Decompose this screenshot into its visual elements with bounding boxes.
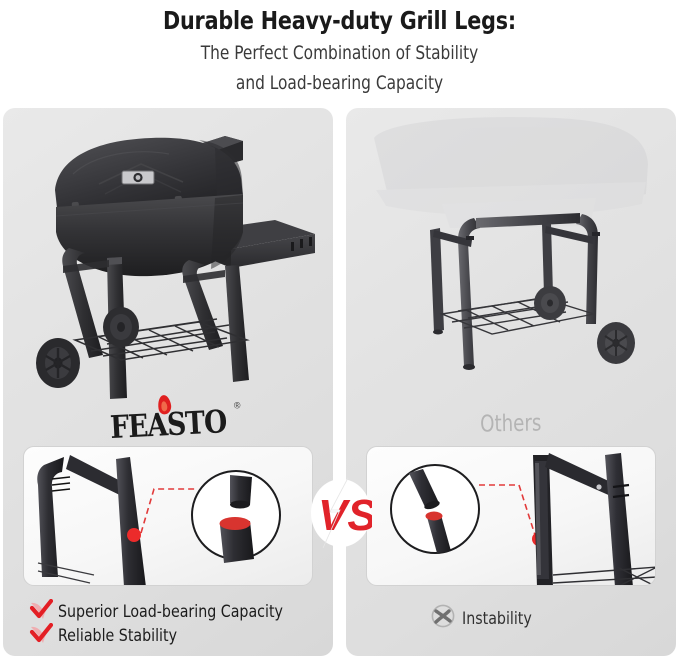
detail-callout-thin-leg [366,446,656,586]
feature-list-feasto: Superior Load-bearing Capacity Reliable … [29,600,329,648]
detail-callout-thick-leg [23,446,313,586]
temperature-gauge [122,171,154,184]
comparison-panel-others: Others [346,108,676,656]
competitor-wheels [534,286,635,364]
vs-label: VS [318,491,372,540]
brand-name: Others [480,410,542,437]
feature-label: Superior Load-bearing Capacity [58,602,283,622]
barrel-grill-illustration [3,108,333,408]
highlight-dot [127,528,141,542]
brand-row-feasto: FEASTO ® [3,404,333,444]
feasto-logo: FEASTO ® [106,404,230,443]
magnifier-circle [391,465,479,553]
feature-item: Reliable Stability [29,624,329,648]
feature-label: Instability [462,609,532,629]
comparison-panel-feasto: FEASTO ® [3,108,333,656]
thin-leg-drawing [533,453,656,586]
check-icon [29,623,53,650]
thin-legs [430,213,600,370]
infographic-root: Durable Heavy-duty Grill Legs: The Perfe… [0,0,679,662]
feature-list-others: Instability [431,604,537,633]
vs-badge: VS [310,476,372,550]
check-icon [29,599,53,626]
magnifier-circle [192,471,280,563]
thick-leg-drawing [37,455,146,586]
feature-item: Superior Load-bearing Capacity [29,600,329,624]
faded-grill-illustration [346,108,676,408]
page-subtitle-line1: The Perfect Combination of Stability [34,36,645,66]
leader-line [141,489,196,533]
ghost-grill-body [374,117,648,228]
x-icon [431,604,455,633]
brand-row-others: Others [346,404,676,444]
page-title: Durable Heavy-duty Grill Legs: [27,0,652,36]
leader-line [479,485,535,535]
registered-trademark-icon: ® [233,400,240,410]
brand-name: FEASTO [109,403,227,446]
header: Durable Heavy-duty Grill Legs: The Perfe… [0,0,679,96]
feature-label: Reliable Stability [58,626,177,646]
page-subtitle-line2: and Load-bearing Capacity [34,66,645,96]
